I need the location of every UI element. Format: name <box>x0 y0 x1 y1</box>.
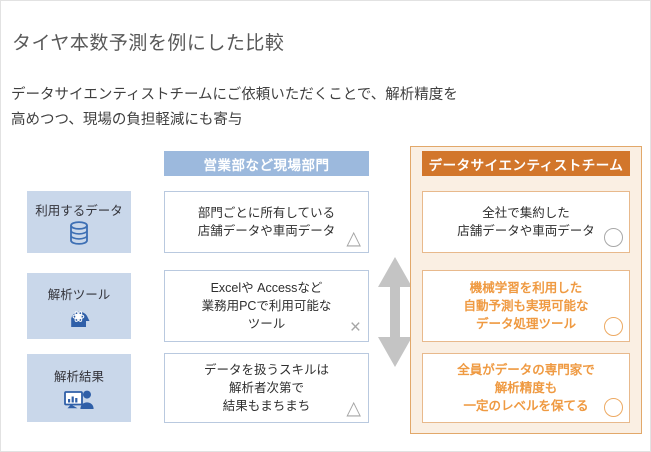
cell-right-tool-text: 機械学習を利用した 自動予測も実現可能な データ処理ツール <box>463 279 588 333</box>
row-label-tool-text: 解析ツール <box>48 284 111 303</box>
row-label-result: 解析結果 <box>27 354 131 422</box>
cell-right-result: 全員がデータの専門家で 解析精度も 一定のレベルを保てる <box>422 353 630 423</box>
cell-right-data-text: 全社で集約した 店舗データや車両データ <box>457 204 595 240</box>
page-title: タイヤ本数予測を例にした比較 <box>12 28 284 55</box>
triangle-mark: △ <box>346 399 361 418</box>
triangle-mark: △ <box>346 229 361 248</box>
cell-right-tool: 機械学習を利用した 自動予測も実現可能な データ処理ツール <box>422 270 630 342</box>
row-label-data-text: 利用するデータ <box>35 200 123 219</box>
presentation-person-icon <box>64 387 94 411</box>
page-subtitle: データサイエンティストチームにご依頼いただくことで、解析精度を 高めつつ、現場の… <box>11 83 458 133</box>
cell-left-tool: Excelや Accessなど 業務用PCで利用可能な ツール × <box>164 270 369 342</box>
subtitle-line-1: データサイエンティストチームにご依頼いただくことで、解析精度を <box>11 83 458 108</box>
row-label-tool: 解析ツール <box>27 273 131 339</box>
column-header-field-department: 営業部など現場部門 <box>164 151 369 176</box>
cell-left-result: データを扱うスキルは 解析者次第で 結果もまちまち △ <box>164 353 369 423</box>
circle-mark <box>604 398 623 417</box>
cross-mark: × <box>350 318 361 337</box>
subtitle-line-2: 高めつつ、現場の負担軽減にも寄与 <box>11 108 458 133</box>
database-icon <box>68 221 90 245</box>
row-label-result-text: 解析結果 <box>54 366 104 385</box>
cell-right-result-text: 全員がデータの専門家で 解析精度も 一定のレベルを保てる <box>457 361 595 415</box>
circle-mark <box>604 317 623 336</box>
cell-left-result-text: データを扱うスキルは 解析者次第で 結果もまちまち <box>204 361 329 415</box>
column-header-data-scientist-team: データサイエンティストチーム <box>422 151 630 176</box>
cell-left-data: 部門ごとに所有している 店舗データや車両データ △ <box>164 191 369 253</box>
cell-right-data: 全社で集約した 店舗データや車両データ <box>422 191 630 253</box>
cell-left-data-text: 部門ごとに所有している 店舗データや車両データ <box>198 204 336 240</box>
cell-left-tool-text: Excelや Accessなど 業務用PCで利用可能な ツール <box>202 279 332 333</box>
circle-mark <box>604 228 623 247</box>
slide-canvas: タイヤ本数予測を例にした比較 データサイエンティストチームにご依頼いただくことで… <box>0 0 651 452</box>
ai-head-icon <box>66 305 92 329</box>
row-label-data: 利用するデータ <box>27 191 131 253</box>
